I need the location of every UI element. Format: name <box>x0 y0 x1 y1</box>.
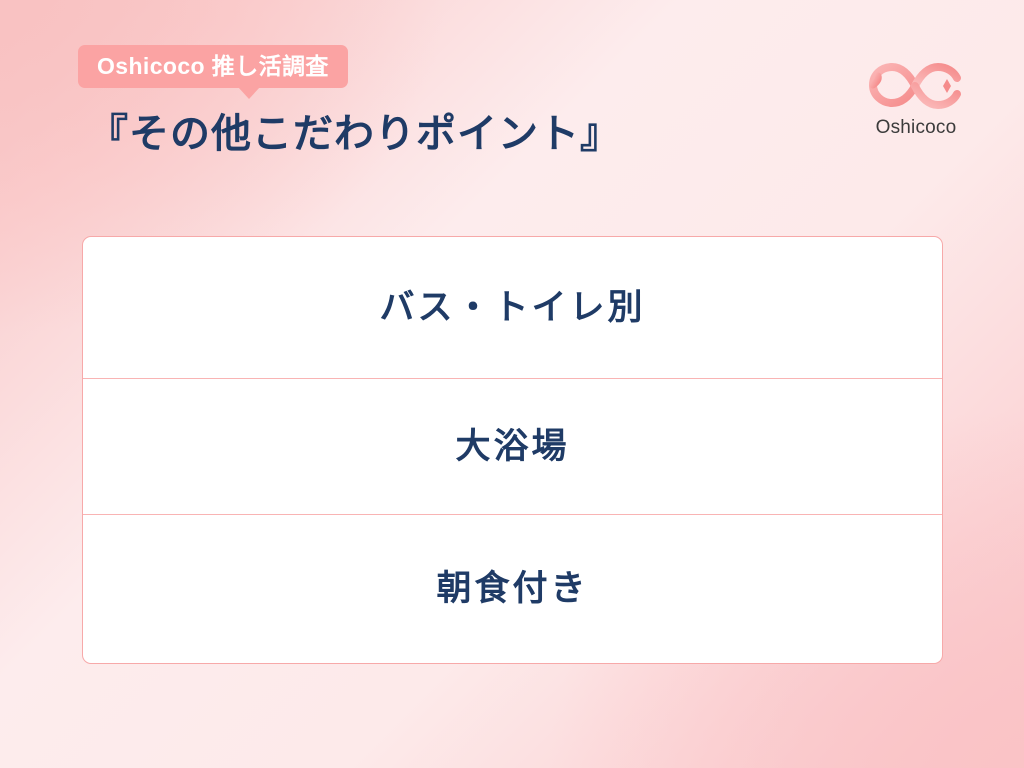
oshicoco-infinity-heart-logo-icon <box>868 58 964 114</box>
points-card: バス・トイレ別 大浴場 朝食付き <box>82 236 943 664</box>
list-item-label: 朝食付き <box>436 571 588 606</box>
list-item-label: バス・トイレ別 <box>379 290 645 325</box>
list-item[interactable]: 朝食付き <box>83 514 942 663</box>
brand-logo: Oshicoco <box>860 58 972 137</box>
slide-canvas: Oshicoco 推し活調査 『その他こだわりポイント』 <box>0 0 1024 768</box>
brand-wordmark: Oshicoco <box>876 118 957 137</box>
list-item[interactable]: バス・トイレ別 <box>83 237 942 378</box>
page-title: 『その他こだわりポイント』 <box>88 110 621 158</box>
survey-badge: Oshicoco 推し活調査 <box>78 45 348 88</box>
survey-badge-label: Oshicoco 推し活調査 <box>97 55 329 78</box>
list-item-label: 大浴場 <box>455 429 569 464</box>
survey-badge-tail-icon <box>238 87 260 99</box>
list-item[interactable]: 大浴場 <box>83 378 942 514</box>
survey-badge-pill: Oshicoco 推し活調査 <box>78 45 348 88</box>
